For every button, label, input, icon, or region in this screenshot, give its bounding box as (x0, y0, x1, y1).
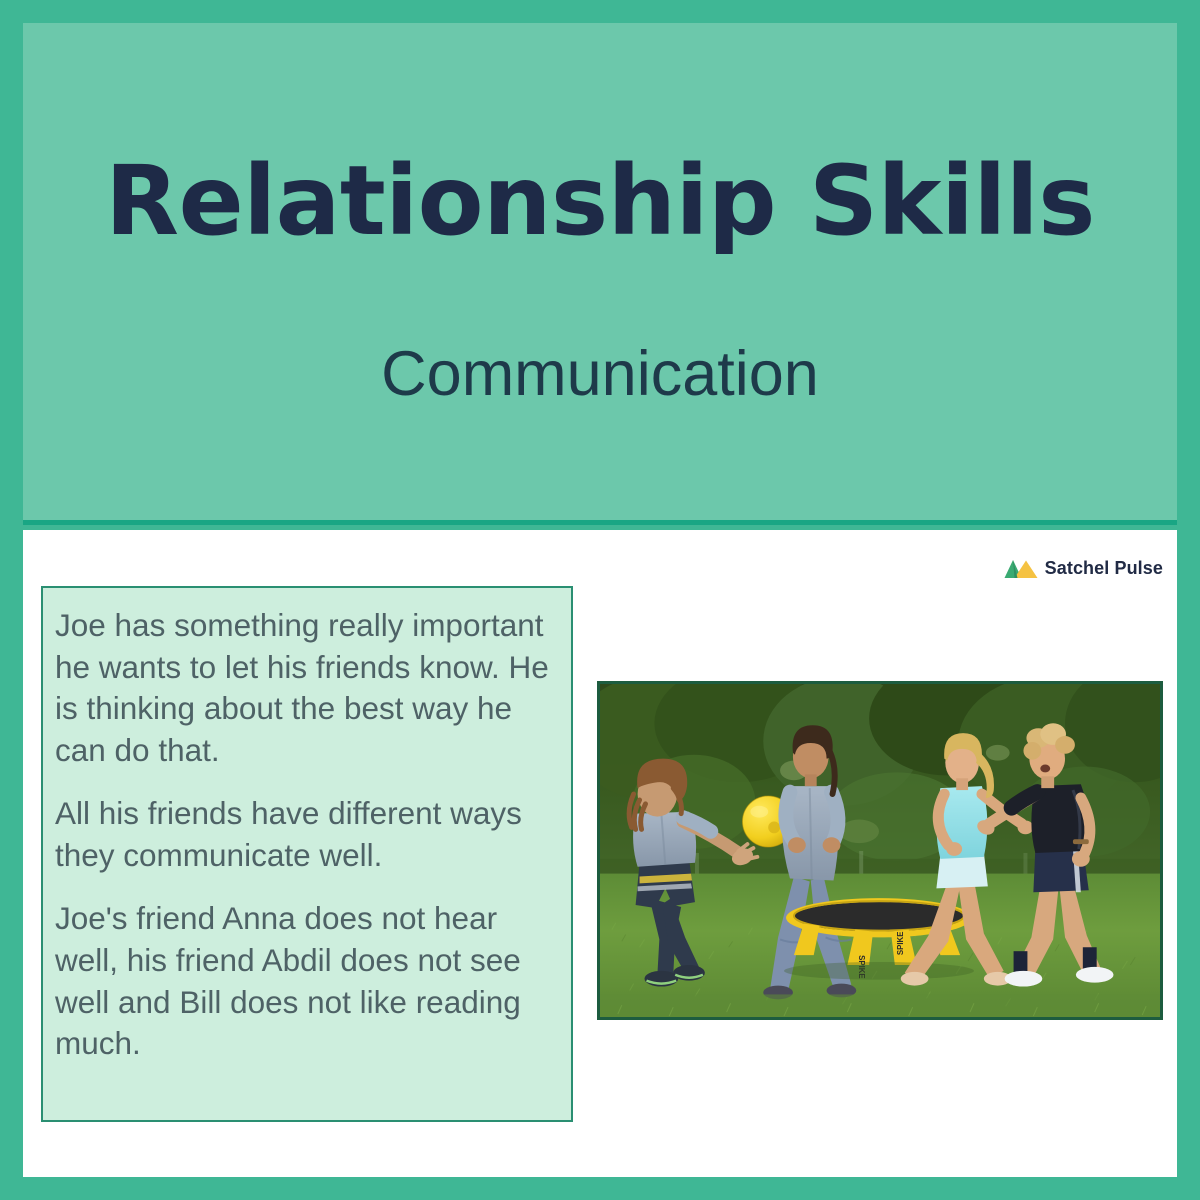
story-paragraph: Joe has something really important he wa… (55, 605, 555, 771)
page-subtitle: Communication (23, 340, 1177, 409)
story-paragraph: Joe's friend Anna does not hear well, hi… (55, 898, 555, 1064)
svg-text:SPIKE: SPIKE (896, 932, 905, 956)
header-panel: Relationship Skills Communication (23, 23, 1177, 525)
two-mountains-icon (1004, 559, 1038, 579)
story-textbox: Joe has something really important he wa… (41, 586, 573, 1122)
photo-illustration: SPIKE SPIKE (600, 684, 1160, 1017)
photo-children-playing-spikeball: SPIKE SPIKE (597, 681, 1163, 1020)
story-paragraph: All his friends have different ways they… (55, 793, 555, 876)
brand-lockup: Satchel Pulse (1004, 558, 1163, 579)
brand-name: Satchel Pulse (1045, 558, 1163, 579)
slide-root: Relationship Skills Communication Satche… (0, 0, 1200, 1200)
page-title: Relationship Skills (23, 151, 1177, 252)
body-panel: Satchel Pulse Joe has something really i… (23, 530, 1177, 1177)
